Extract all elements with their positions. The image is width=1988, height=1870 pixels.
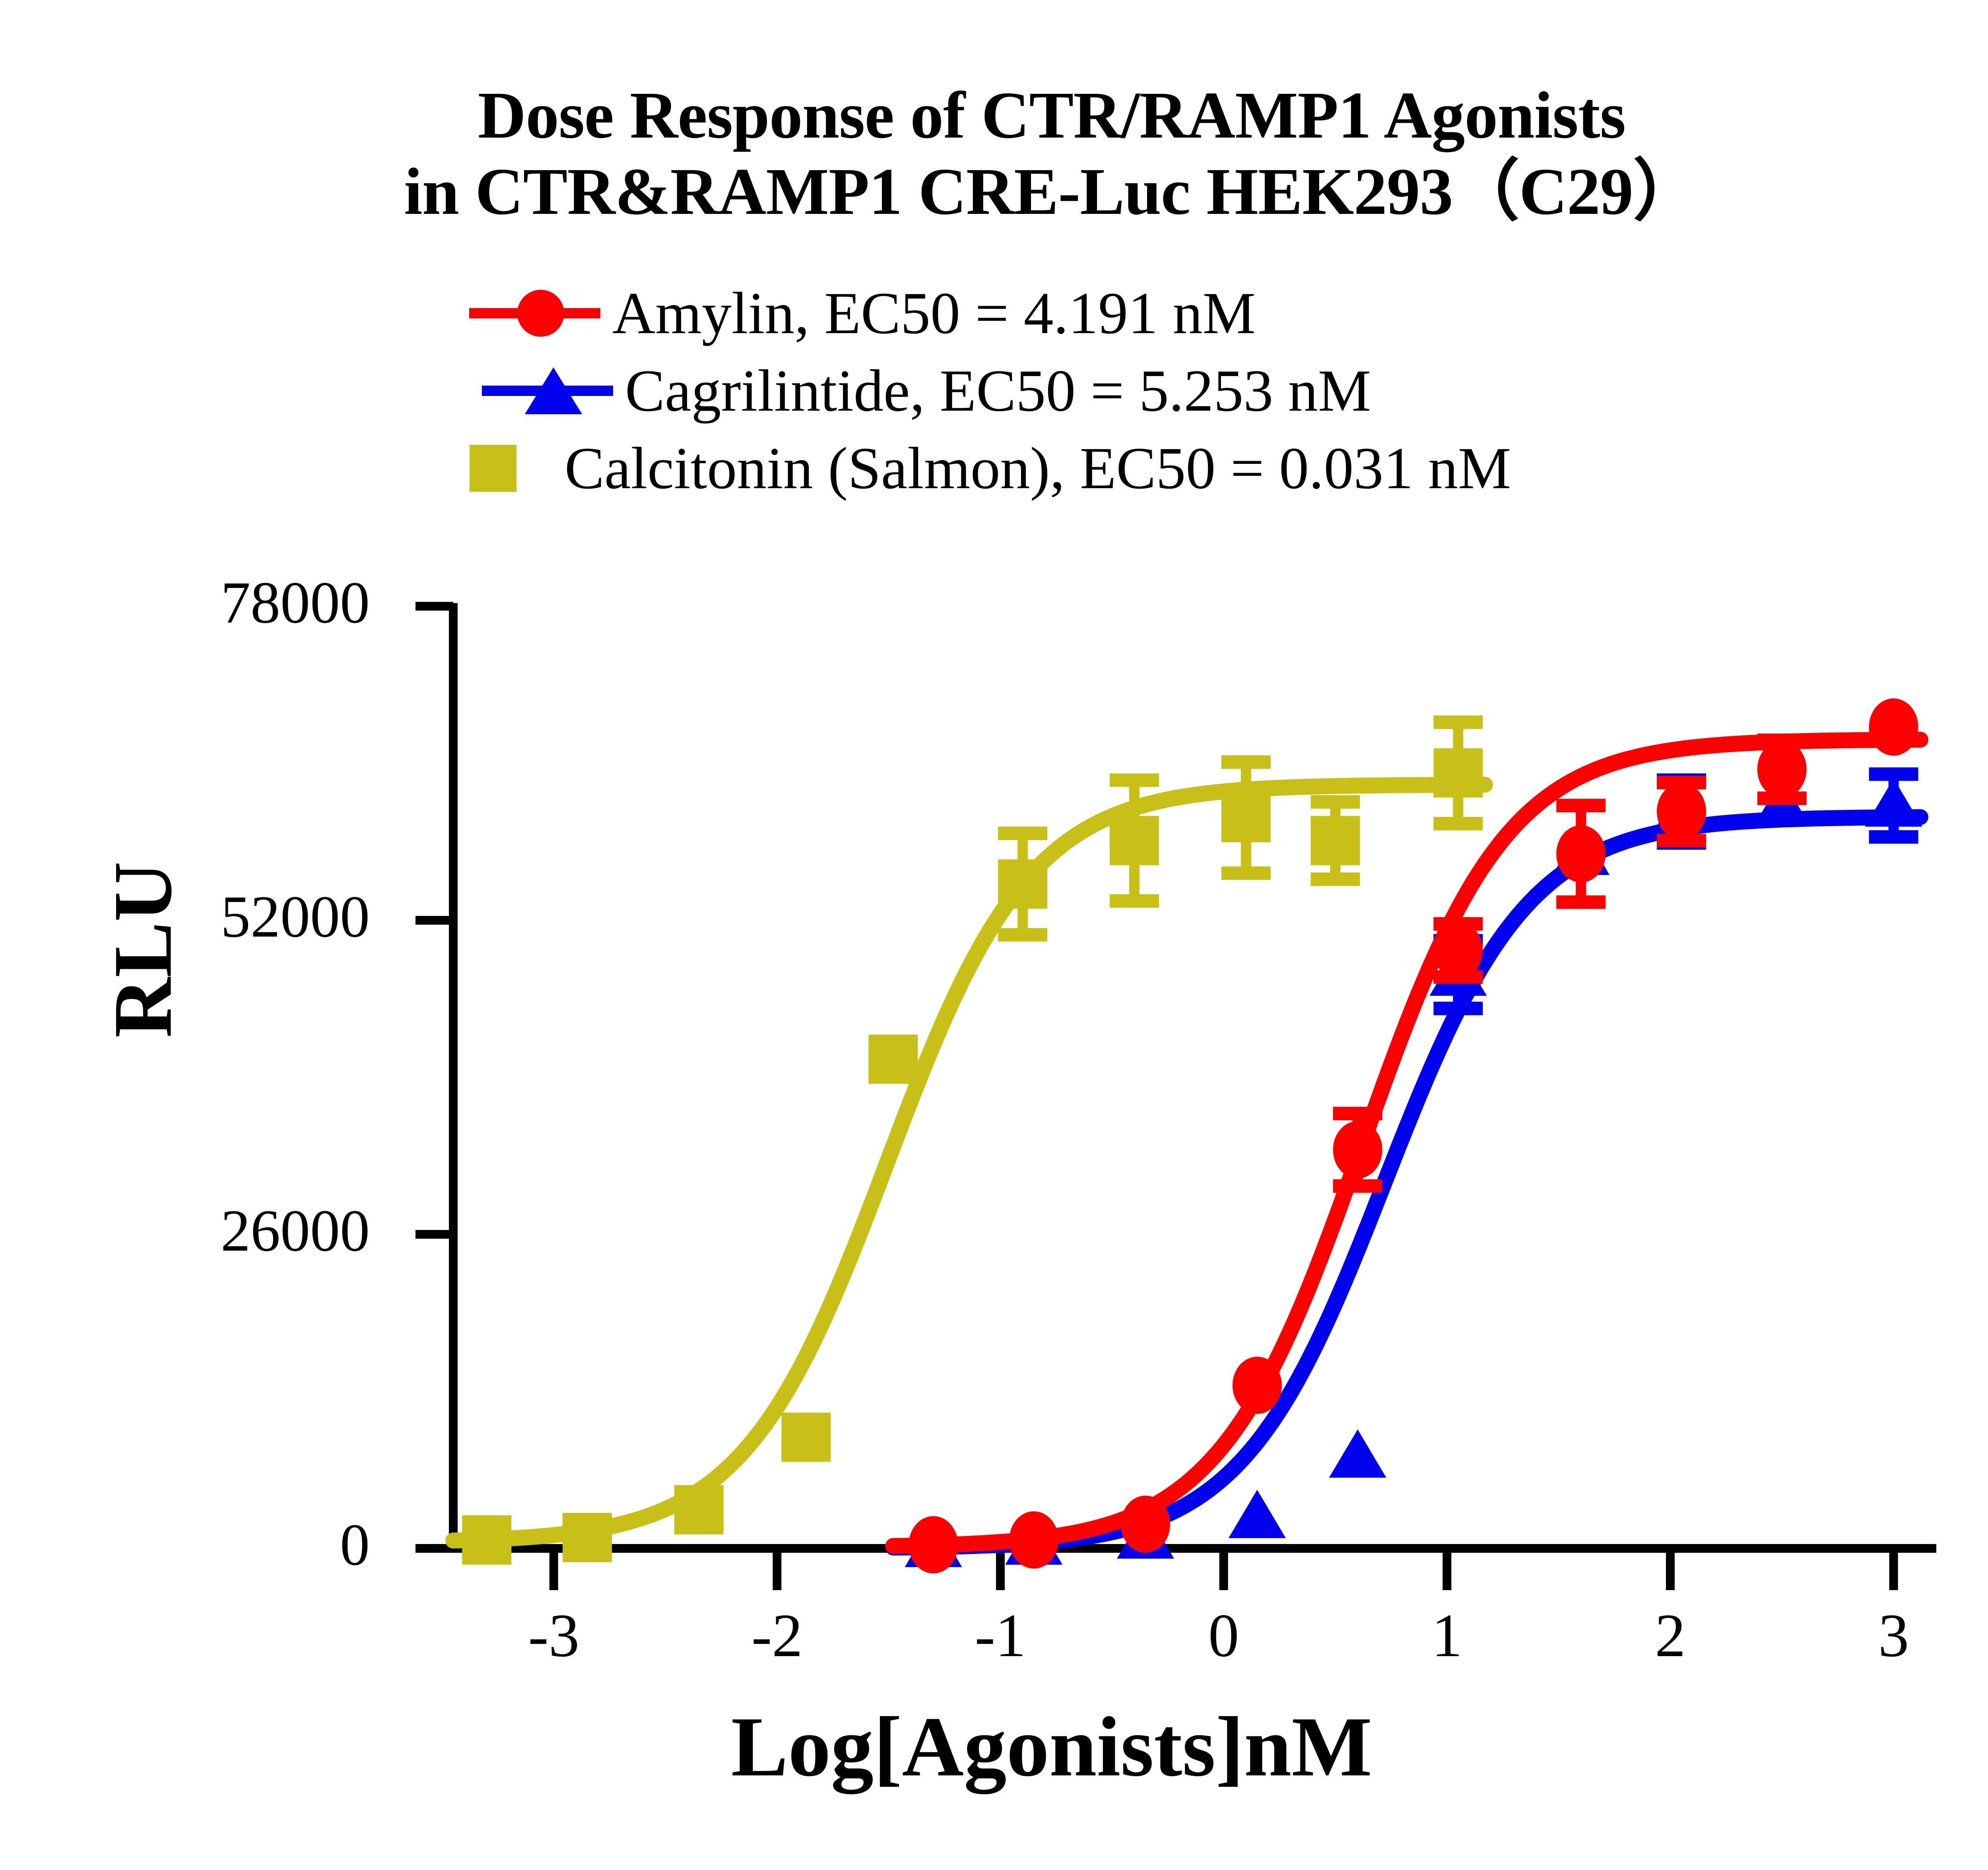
x-tick-label: 0 [1164, 1600, 1283, 1671]
data-point-square [781, 1412, 831, 1462]
data-point-triangle [1329, 1430, 1386, 1478]
y-tick-label: 0 [340, 1511, 370, 1579]
data-point-square [1110, 816, 1159, 865]
series-cagrilintide [893, 774, 1922, 1567]
data-point-circle [909, 1516, 958, 1573]
data-point-square [868, 1034, 918, 1084]
x-tick-label: 1 [1387, 1600, 1507, 1671]
data-point-circle [1121, 1496, 1170, 1553]
data-point-circle [1556, 825, 1606, 883]
data-point-square [563, 1513, 612, 1562]
y-axis-title: RLU [95, 871, 191, 1038]
y-tick-label: 52000 [221, 883, 370, 951]
data-point-square [1433, 748, 1483, 797]
x-axis-title: Log[Agonists]nM [0, 1697, 1988, 1796]
data-point-square [1221, 793, 1271, 842]
data-point-circle [1869, 698, 1918, 756]
y-tick-label: 78000 [221, 568, 370, 637]
x-tick-label: -3 [494, 1600, 613, 1671]
data-point-circle [1757, 741, 1807, 798]
data-point-square [462, 1515, 511, 1565]
figure-canvas: Dose Response of CTR/RAMP1 Agonists in C… [0, 0, 1988, 1870]
data-point-circle [1333, 1121, 1382, 1178]
series-calcitonin-salmon- [453, 722, 1485, 1565]
fit-curve [893, 817, 1920, 1548]
x-tick-label: -1 [941, 1600, 1060, 1671]
y-tick-label: 26000 [221, 1197, 370, 1265]
x-tick-label: 3 [1834, 1600, 1953, 1671]
data-point-square [1310, 816, 1360, 865]
data-point-circle [1433, 922, 1483, 979]
data-point-circle [1233, 1357, 1282, 1414]
data-point-circle [1657, 783, 1706, 840]
data-point-square [998, 859, 1047, 909]
x-tick-label: -2 [717, 1600, 837, 1671]
fit-curve [453, 785, 1485, 1540]
data-point-square [674, 1485, 724, 1534]
x-tick-label: 2 [1611, 1600, 1730, 1671]
data-point-triangle [1865, 778, 1922, 827]
data-point-triangle [1229, 1490, 1286, 1538]
data-point-circle [1009, 1511, 1058, 1569]
